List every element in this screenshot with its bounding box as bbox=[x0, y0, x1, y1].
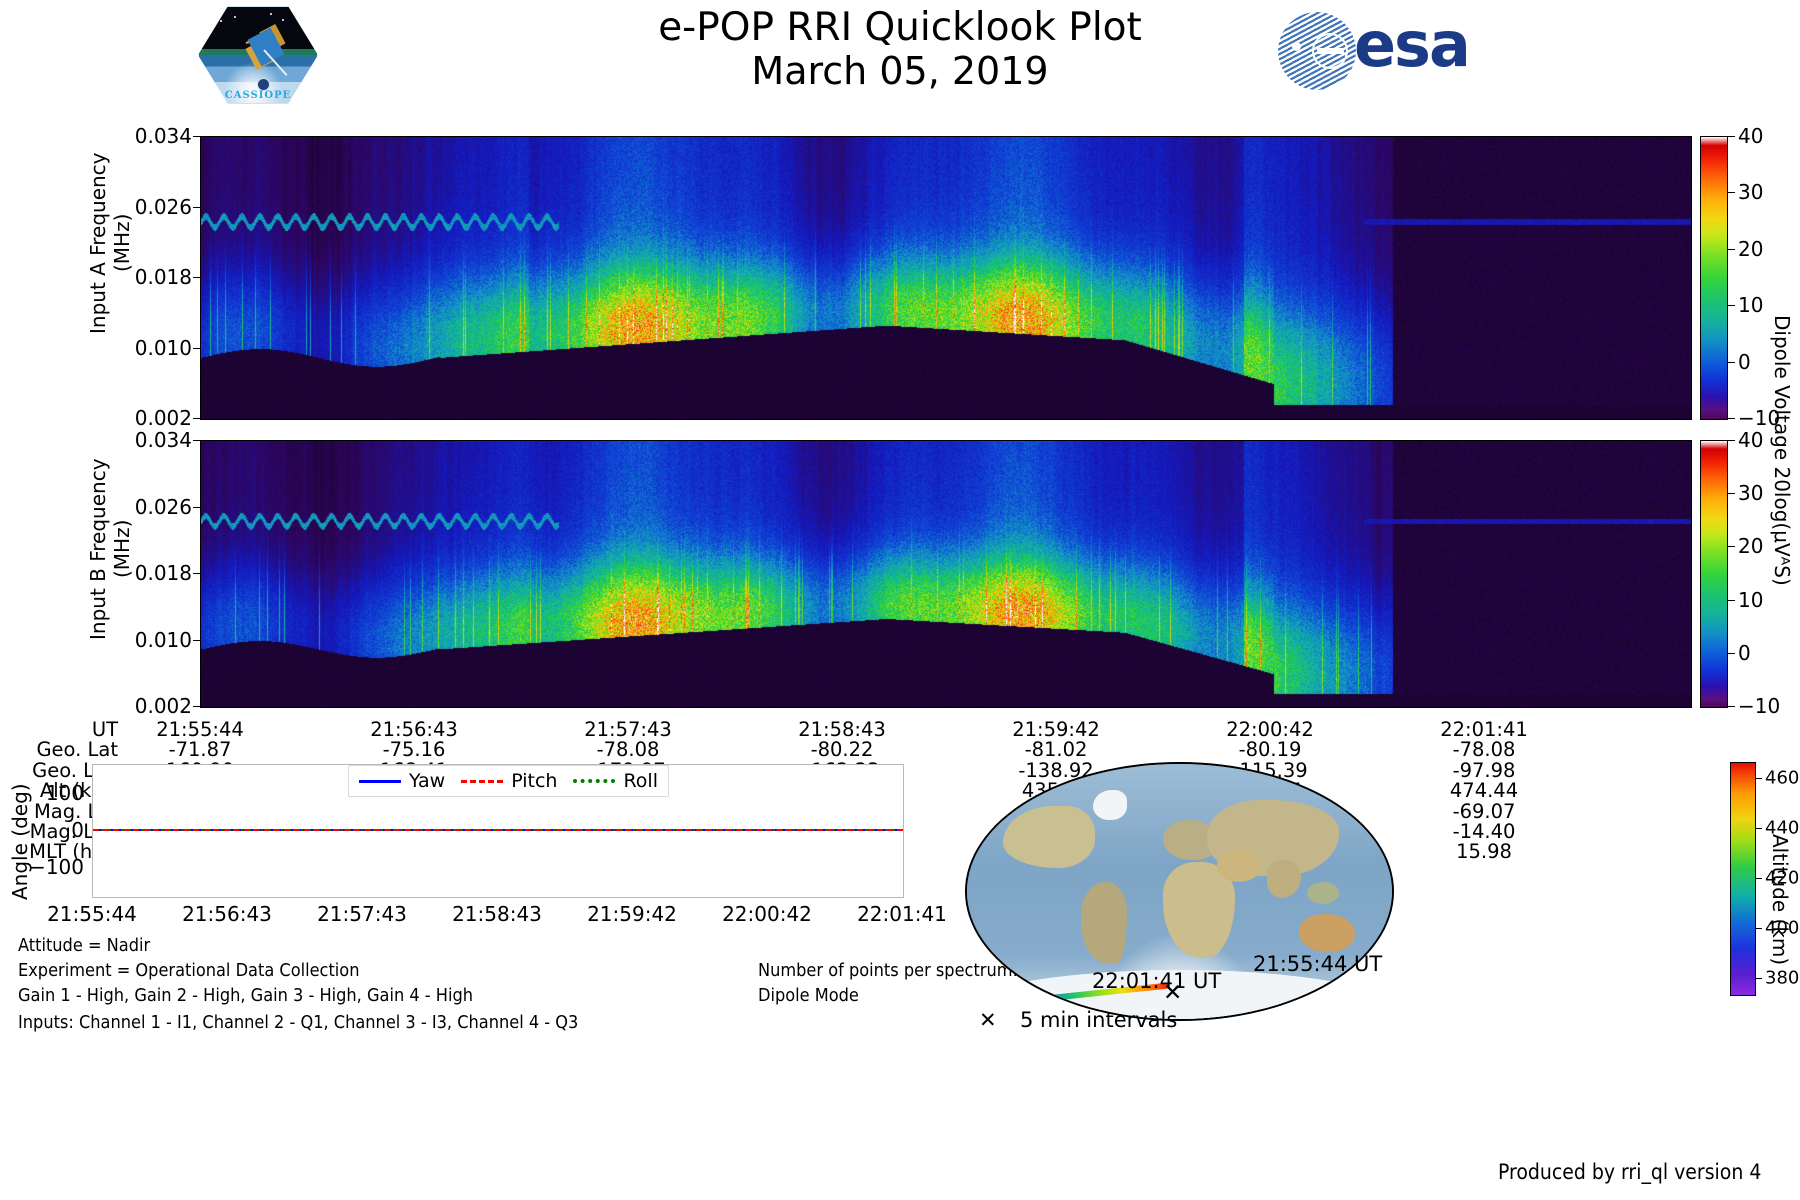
esa-e-icon bbox=[1314, 35, 1346, 67]
attitude-ytick: 0 bbox=[0, 818, 84, 842]
spectrogram-b-y-tickmark bbox=[193, 640, 200, 641]
colorbar-b-tickmark bbox=[1727, 546, 1735, 547]
colorbar-b bbox=[1700, 440, 1728, 708]
attitude-xtick: 21:59:42 bbox=[587, 902, 677, 926]
altitude-tickmark bbox=[1755, 828, 1762, 829]
spectrogram-b-y-tickmark bbox=[193, 440, 200, 441]
spectrogram-b-y-tickmark bbox=[193, 706, 200, 707]
spectrogram-a-y-tickmark bbox=[193, 418, 200, 419]
land-australia bbox=[1299, 914, 1355, 952]
colorbar-a-tick: 30 bbox=[1738, 180, 1763, 204]
attitude-xtick: 21:58:43 bbox=[452, 902, 542, 926]
colorbar-b-tickmark bbox=[1727, 600, 1735, 601]
colorbar-a-tickmark bbox=[1727, 136, 1735, 137]
spectrogram-a-y-tickmark bbox=[193, 277, 200, 278]
title-line-1: e-POP RRI Quicklook Plot bbox=[658, 5, 1142, 50]
land-southeast-asia bbox=[1307, 882, 1339, 904]
spectrogram-a-panel bbox=[200, 136, 1692, 420]
spectrogram-b-y-tickmark bbox=[193, 573, 200, 574]
land-middle-east bbox=[1217, 850, 1261, 882]
altitude-tickmark bbox=[1755, 978, 1762, 979]
attitude-ytick: 100 bbox=[0, 781, 84, 805]
ephemeris-row: Geo. Lat-71.87-75.16-78.08-80.22-81.02-8… bbox=[0, 738, 1495, 758]
spectrogram-b-y-tick: 0.018 bbox=[126, 561, 192, 585]
colorbar-b-tick: 40 bbox=[1738, 428, 1763, 452]
map-legend-marker-icon: ✕ bbox=[979, 1010, 997, 1031]
legend-label: Roll bbox=[623, 770, 658, 792]
spectrogram-b-y-tick: 0.002 bbox=[126, 694, 192, 718]
attitude-xtick: 21:56:43 bbox=[182, 902, 272, 926]
colorbar-b-tickmark bbox=[1727, 653, 1735, 654]
spectrogram-b-y-tick: 0.026 bbox=[126, 495, 192, 519]
legend-item: Yaw bbox=[359, 770, 445, 792]
spectrogram-a-y-tickmark bbox=[193, 136, 200, 137]
altitude-colorbar bbox=[1730, 762, 1756, 996]
cassiope-logo: CASSIOPE bbox=[198, 6, 318, 104]
footer-experiment: Experiment = Operational Data Collection bbox=[18, 960, 359, 981]
colorbar-b-tick: −10 bbox=[1738, 694, 1780, 718]
spectrogram-a-y-tickmark bbox=[193, 207, 200, 208]
colorbar-a-tickmark bbox=[1727, 305, 1735, 306]
colorbar-b-tickmark bbox=[1727, 440, 1735, 441]
spectrogram-b-y-tickmark bbox=[193, 507, 200, 508]
legend-swatch-yaw bbox=[359, 780, 401, 783]
cassiope-caption: CASSIOPE bbox=[199, 90, 317, 101]
altitude-colorbar-label: Altitude (km) bbox=[1768, 820, 1792, 980]
colorbar-b-tick: 20 bbox=[1738, 534, 1763, 558]
attitude-xtick: 21:55:44 bbox=[47, 902, 137, 926]
spectrogram-a-y-tickmark bbox=[193, 348, 200, 349]
attitude-legend: YawPitchRoll bbox=[348, 765, 669, 797]
map-legend-label: 5 min intervals bbox=[1020, 1008, 1177, 1032]
altitude-tick: 460 bbox=[1765, 768, 1799, 789]
legend-label: Pitch bbox=[511, 770, 557, 792]
colorbar-b-tickmark bbox=[1727, 706, 1735, 707]
colorbar-label: Dipole Voltage 20log(μVᴬS) bbox=[1770, 250, 1794, 650]
attitude-ytick: −100 bbox=[0, 855, 84, 879]
footer-gain: Gain 1 - High, Gain 2 - High, Gain 3 - H… bbox=[18, 985, 473, 1006]
colorbar-a-tickmark bbox=[1727, 362, 1735, 363]
specA-image bbox=[201, 137, 1691, 419]
footer-inputs: Inputs: Channel 1 - I1, Channel 2 - Q1, … bbox=[18, 1012, 578, 1033]
spectrogram-b-panel bbox=[200, 440, 1692, 708]
spectrogram-a-y-tick: 0.034 bbox=[126, 124, 192, 148]
map-start-time-label: 21:55:44 UT bbox=[1253, 952, 1382, 976]
specB-image bbox=[201, 441, 1691, 707]
colorbar-b-tickmark bbox=[1727, 493, 1735, 494]
colorbar-a bbox=[1700, 136, 1728, 420]
footer-produced-by: Produced by rri_ql version 4 bbox=[1498, 1160, 1761, 1184]
map-end-time-label: 22:01:41 UT bbox=[1092, 969, 1221, 993]
colorbar-a-tickmark bbox=[1727, 192, 1735, 193]
spectrogram-a-y-tick: 0.010 bbox=[126, 336, 192, 360]
colorbar-a-tick: 0 bbox=[1738, 350, 1751, 374]
colorbar-b-tick: 10 bbox=[1738, 588, 1763, 612]
colorbar-a-tick: 20 bbox=[1738, 237, 1763, 261]
spectrogram-a-ylabel: Input A Frequency (MHz) bbox=[86, 124, 134, 362]
land-greenland bbox=[1093, 790, 1127, 820]
spectrogram-a-y-tick: 0.018 bbox=[126, 265, 192, 289]
legend-swatch-roll bbox=[573, 779, 615, 783]
legend-label: Yaw bbox=[409, 770, 445, 792]
quicklook-page: e-POP RRI Quicklook Plot March 05, 2019 … bbox=[0, 0, 1800, 1200]
legend-swatch-pitch bbox=[461, 780, 503, 783]
spectrogram-a-y-tick: 0.002 bbox=[126, 406, 192, 430]
ephemeris-row: UT21:55:4421:56:4321:57:4321:58:4321:59:… bbox=[0, 718, 1495, 738]
colorbar-a-tick: 40 bbox=[1738, 124, 1763, 148]
ephemeris-cell: 15.98 bbox=[1424, 840, 1544, 863]
attitude-xtick: 22:00:42 bbox=[722, 902, 812, 926]
legend-item: Roll bbox=[573, 770, 658, 792]
footer-attitude: Attitude = Nadir bbox=[18, 935, 150, 956]
colorbar-b-tick: 30 bbox=[1738, 481, 1763, 505]
colorbar-a-tick: 10 bbox=[1738, 293, 1763, 317]
footer-mode: Dipole Mode bbox=[758, 985, 859, 1006]
altitude-tickmark bbox=[1755, 928, 1762, 929]
colorbar-a-tickmark bbox=[1727, 418, 1735, 419]
esa-logo: esa bbox=[1278, 6, 1508, 94]
colorbar-b-tick: 0 bbox=[1738, 641, 1751, 665]
altitude-tickmark bbox=[1755, 878, 1762, 879]
spectrogram-b-y-tick: 0.034 bbox=[126, 428, 192, 452]
altitude-tickmark bbox=[1755, 778, 1762, 779]
esa-wordmark: esa bbox=[1354, 14, 1469, 76]
legend-item: Pitch bbox=[461, 770, 557, 792]
attitude-xtick: 22:01:41 bbox=[857, 902, 947, 926]
esa-dot-icon bbox=[1292, 42, 1301, 51]
spectrogram-a-y-tick: 0.026 bbox=[126, 195, 192, 219]
colorbar-a-tickmark bbox=[1727, 249, 1735, 250]
attitude-xtick: 21:57:43 bbox=[317, 902, 407, 926]
cassiope-hex-icon: CASSIOPE bbox=[198, 6, 318, 104]
spectrogram-b-y-tick: 0.010 bbox=[126, 628, 192, 652]
